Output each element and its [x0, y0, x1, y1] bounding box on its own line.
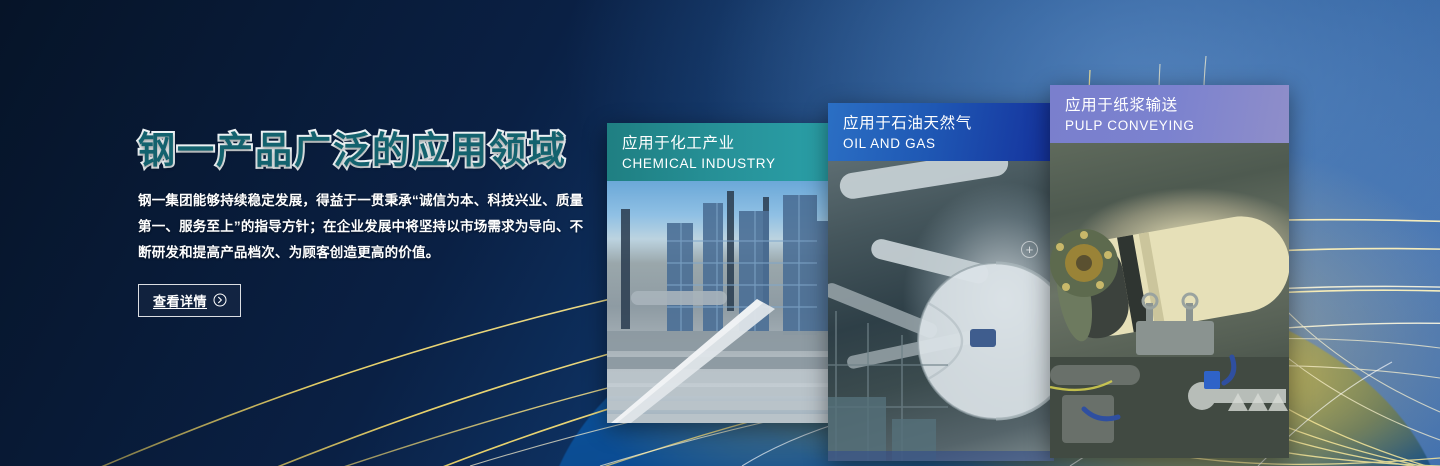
hero-description: 钢一集团能够持续稳定发展，得益于一贯秉承“诚信为本、科技兴业、质量第一、服务至上…: [138, 188, 590, 266]
card-title-cn: 应用于纸浆输送: [1065, 96, 1275, 116]
zoom-plus-icon[interactable]: +: [1021, 241, 1038, 258]
hero-banner: 钢一产品广泛的应用领域 钢一集团能够持续稳定发展，得益于一贯秉承“诚信为本、科技…: [0, 0, 1440, 466]
view-details-button[interactable]: 查看详情: [138, 284, 241, 317]
card-header-pulp: 应用于纸浆输送 PULP CONVEYING: [1050, 85, 1289, 143]
chevron-right-circle-icon: [213, 293, 227, 307]
application-card-oilgas[interactable]: 应用于石油天然气 OIL AND GAS: [828, 103, 1054, 461]
card-title-en: OIL AND GAS: [843, 135, 1040, 153]
view-details-label: 查看详情: [153, 291, 207, 310]
card-photo-pulp: [1050, 143, 1289, 458]
card-photo-oilgas: +: [828, 161, 1054, 461]
application-card-pulp[interactable]: 应用于纸浆输送 PULP CONVEYING: [1050, 85, 1289, 458]
chemical-plant-illustration: [607, 181, 837, 423]
card-title-cn: 应用于石油天然气: [843, 114, 1040, 134]
hero-copy: 钢一产品广泛的应用领域 钢一集团能够持续稳定发展，得益于一贯秉承“诚信为本、科技…: [138, 131, 598, 317]
card-header-oilgas: 应用于石油天然气 OIL AND GAS: [828, 103, 1054, 161]
card-title-en: PULP CONVEYING: [1065, 117, 1275, 135]
card-header-chemical: 应用于化工产业 CHEMICAL INDUSTRY: [607, 123, 837, 181]
application-card-chemical[interactable]: 应用于化工产业 CHEMICAL INDUSTRY: [607, 123, 837, 423]
card-title-en: CHEMICAL INDUSTRY: [622, 155, 823, 173]
card-photo-chemical: [607, 181, 837, 423]
card-title-cn: 应用于化工产业: [622, 134, 823, 154]
page-title: 钢一产品广泛的应用领域: [138, 131, 598, 172]
pulp-mill-roller-illustration: [1050, 143, 1289, 458]
oil-gas-refinery-illustration: [828, 161, 1054, 461]
